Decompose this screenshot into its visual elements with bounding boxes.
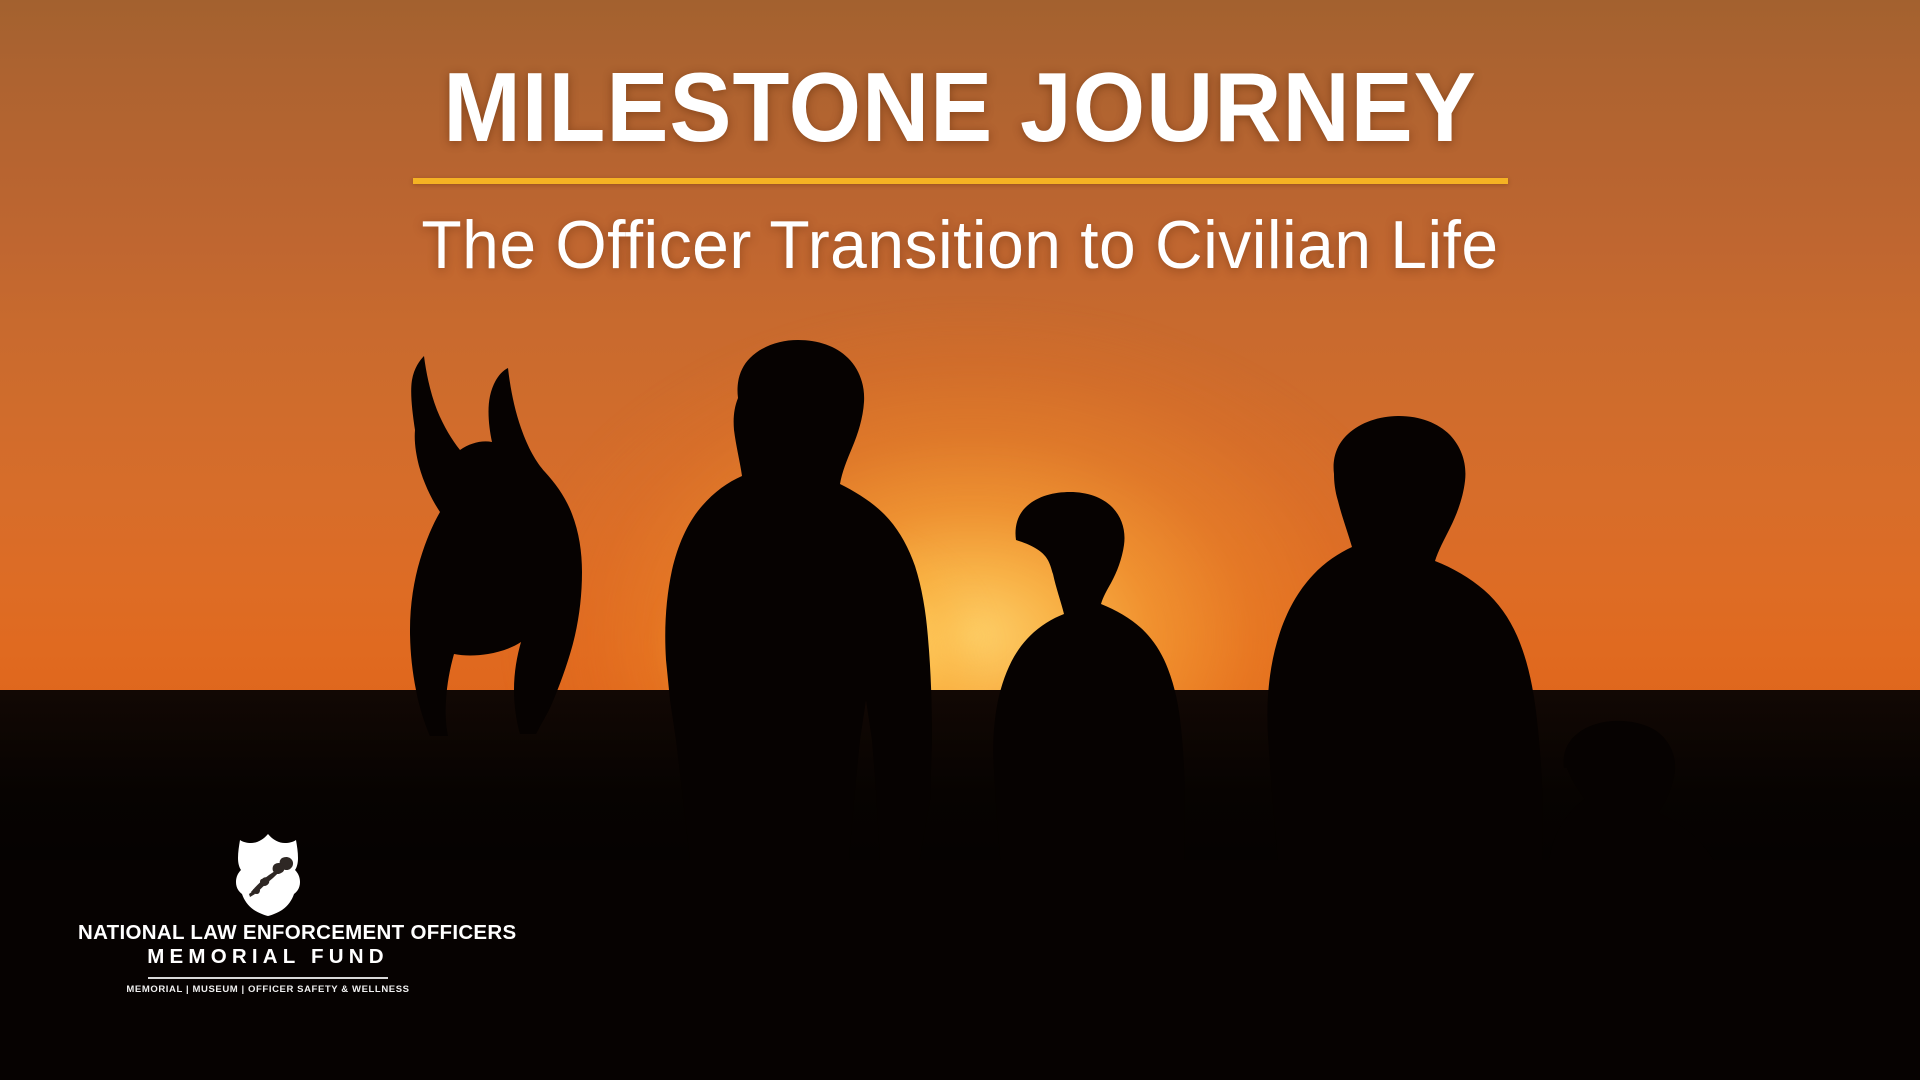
logo-org-line-1: NATIONAL LAW ENFORCEMENT OFFICERS (78, 922, 458, 944)
logo-tagline: MEMORIAL | MUSEUM | OFFICER SAFETY & WEL… (78, 984, 458, 995)
title-divider-rule (413, 178, 1508, 184)
title-block: MILESTONE JOURNEY The Officer Transition… (0, 58, 1920, 281)
sun-glow-inner (610, 380, 1040, 710)
page-subtitle: The Officer Transition to Civilian Life (29, 210, 1891, 281)
sun-disc (742, 560, 796, 604)
page-title: MILESTONE JOURNEY (48, 58, 1872, 156)
slide-canvas: MILESTONE JOURNEY The Officer Transition… (0, 0, 1920, 1080)
logo-divider-rule (148, 977, 388, 979)
police-shield-badge-icon (232, 832, 304, 916)
logo-org-line-2: MEMORIAL FUND (78, 944, 458, 971)
organization-logo: NATIONAL LAW ENFORCEMENT OFFICERS MEMORI… (78, 832, 458, 995)
